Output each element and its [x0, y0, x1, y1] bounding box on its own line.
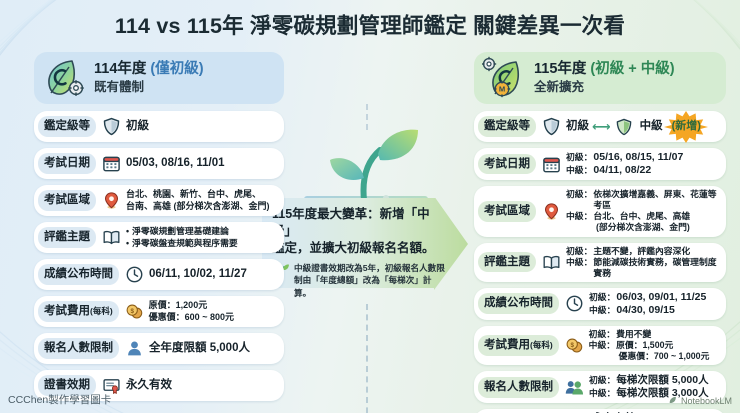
- watermark: NotebookLM: [668, 395, 732, 407]
- column-115-header-text: 115年度 (初級 + 中級) 全新擴充: [534, 61, 675, 95]
- location-pin-icon: [101, 190, 122, 211]
- location-pin-icon: [541, 201, 562, 222]
- grade-comparison: 初級 ⟷ 中級 (新增): [566, 116, 720, 137]
- table-row[interactable]: 成績公布時間 06/11, 10/02, 11/27: [34, 259, 284, 290]
- row-value: 初級 ⟷ 中級 (新增): [566, 116, 720, 137]
- people-icon: [564, 377, 585, 398]
- bullet-dot: •: [126, 238, 129, 250]
- row-label: 報名人數限制: [38, 338, 119, 359]
- person-icon: [124, 338, 145, 359]
- row-label: 考試費用(每科): [478, 335, 559, 356]
- center-callout-group: 115年度最大變革：新增「中級」 鑑定，並擴大初級報名名額。 中級證書效期改為5…: [262, 52, 470, 400]
- value-advanced-note: (部分梯次含澎湖、金門): [566, 222, 720, 233]
- value-advanced: 中級：節能減碳技術實務，碳管理制度實務: [566, 257, 720, 279]
- table-row[interactable]: 評鑑主題 初級：主題不變，評鑑內容深化 中級：節能減碳技術實務，碳管理制度實務: [474, 243, 726, 282]
- column-115-title: 115年度 (初級 + 中級): [534, 61, 675, 79]
- table-row[interactable]: 證書效期 初級：永久有效 中級：5年效期 (需換證): [474, 409, 726, 413]
- svg-text:M: M: [499, 85, 505, 94]
- column-114: 114年度 (僅初級) 既有體制 鑑定級等 初級 考試日期 05/03, 08/…: [34, 52, 284, 407]
- value-advanced-note: 優惠價：700 ~ 1,000元: [589, 351, 720, 362]
- row-label: 考試費用(每科): [38, 301, 119, 322]
- dashed-divider: [366, 304, 368, 413]
- table-row[interactable]: 考試區域 初級：依梯次擴增嘉義、屏東、花蓮等考區 中級：台北、台中、虎尾、高雄 …: [474, 186, 726, 236]
- new-badge-label: (新增): [672, 120, 701, 134]
- bullet-item: •淨零碳規劃管理基礎建論: [126, 226, 278, 238]
- watermark-label: NotebookLM: [681, 396, 732, 406]
- open-book-icon: [541, 252, 562, 273]
- calendar-icon: [541, 154, 562, 175]
- table-row[interactable]: 評鑑主題 •淨零碳規劃管理基礎建論 •淨零碳盤查規範與程序需要: [34, 222, 284, 253]
- row-value: 永久有效: [126, 378, 278, 392]
- callout-text-block: 115年度最大變革：新增「中級」 鑑定，並擴大初級報名名額。 中級證書效期改為5…: [272, 206, 448, 299]
- column-114-header: 114年度 (僅初級) 既有體制: [34, 52, 284, 104]
- value-advanced: 中級：04/30, 09/15: [589, 304, 720, 317]
- svg-text:$: $: [570, 342, 574, 349]
- row-label: 鑑定級等: [478, 116, 536, 137]
- table-row[interactable]: 報名人數限制 全年度限額 5,000人: [34, 333, 284, 364]
- row-label: 考試區域: [478, 201, 536, 222]
- row-value: 原價：1,200元 優惠價：600 ~ 800元: [149, 300, 278, 323]
- page-title: 114 vs 115年 淨零碳規劃管理師鑑定 關鍵差異一次看: [0, 9, 740, 40]
- callout-note: 中級證書效期改為5年，初級報名人數限 制由「年度總額」改為「每梯次」計算。: [272, 262, 448, 299]
- table-row[interactable]: 成績公布時間 初級：06/03, 09/01, 11/25 中級：04/30, …: [474, 288, 726, 320]
- row-value: 初級：06/03, 09/01, 11/25 中級：04/30, 09/15: [589, 291, 720, 317]
- shield-icon: [541, 116, 562, 137]
- infographic-card: 114 vs 115年 淨零碳規劃管理師鑑定 關鍵差異一次看: [0, 0, 740, 413]
- row-label: 評鑑主題: [38, 227, 96, 248]
- row-value: 全年度限額 5,000人: [149, 341, 278, 355]
- double-arrow-icon: ⟷: [592, 120, 611, 133]
- row-label: 考試日期: [478, 154, 536, 175]
- value-basic: 初級：每梯次限額 5,000人: [589, 374, 720, 387]
- table-row[interactable]: 鑑定級等 初級 ⟷ 中級 (新增): [474, 111, 726, 142]
- grade-advanced: 中級: [640, 119, 663, 133]
- row-value: 05/03, 08/16, 11/01: [126, 156, 278, 170]
- open-book-icon: [101, 227, 122, 248]
- table-row[interactable]: 鑑定級等 初級: [34, 111, 284, 142]
- table-row[interactable]: 考試日期 初級：05/16, 08/15, 11/07 中級：04/11, 08…: [474, 148, 726, 180]
- svg-text:$: $: [130, 308, 134, 315]
- row-value: 台北、桃園、新竹、台中、虎尾、 台南、高雄 (部分梯次含澎湖、金門): [126, 189, 278, 212]
- new-badge: (新增): [667, 117, 706, 137]
- value-basic: 初級：05/16, 08/15, 11/07: [566, 151, 720, 164]
- value-basic: 初級：費用不變: [589, 329, 720, 340]
- callout-note-text: 中級證書效期改為5年，初級報名人數限 制由「年度總額」改為「每梯次」計算。: [294, 262, 448, 299]
- column-114-subtitle: 既有體制: [94, 80, 204, 95]
- leaf-c-gear-icon: [42, 56, 86, 100]
- row-label: 評鑑主題: [478, 252, 536, 273]
- notebooklm-icon: [668, 395, 678, 407]
- value-basic: 初級：06/03, 09/01, 11/25: [589, 291, 720, 304]
- value-advanced: 中級：原價：1,500元: [589, 340, 720, 351]
- coins-icon: $: [124, 301, 145, 322]
- row-value: 初級：依梯次擴增嘉義、屏東、花蓮等考區 中級：台北、台中、虎尾、高雄 (部分梯次…: [566, 189, 720, 233]
- column-115: M 115年度 (初級 + 中級) 全新擴充 鑑定級等 初級 ⟷: [474, 52, 726, 413]
- table-row[interactable]: 考試費用(每科) $ 初級：費用不變 中級：原價：1,500元 優惠價：700 …: [474, 326, 726, 365]
- row-label: 成績公布時間: [38, 264, 119, 285]
- row-value: •淨零碳規劃管理基礎建論 •淨零碳盤查規範與程序需要: [126, 226, 278, 250]
- row-value: 初級：主題不變，評鑑內容深化 中級：節能減碳技術實務，碳管理制度實務: [566, 246, 720, 279]
- row-label: 鑑定級等: [38, 116, 96, 137]
- table-row[interactable]: 考試日期 05/03, 08/16, 11/01: [34, 148, 284, 179]
- row-label: 報名人數限制: [478, 377, 559, 398]
- clock-icon: [124, 264, 145, 285]
- value-basic: 初級：依梯次擴增嘉義、屏東、花蓮等考區: [566, 189, 720, 211]
- grade-basic: 初級: [566, 119, 589, 133]
- row-label: 考試日期: [38, 153, 96, 174]
- bullet-item: •淨零碳盤查規範與程序需要: [126, 238, 278, 250]
- footer-credit: CCChen製作學習圖卡: [8, 392, 111, 407]
- row-value: 初級：05/16, 08/15, 11/07 中級：04/11, 08/22: [566, 151, 720, 177]
- bullet-dot: •: [126, 226, 129, 238]
- leaf-c-m-gear-icon: M: [482, 56, 526, 100]
- dashed-stem-top: [366, 104, 368, 130]
- row-value: 初級: [126, 119, 278, 133]
- table-row[interactable]: 考試區域 台北、桃園、新竹、台中、虎尾、 台南、高雄 (部分梯次含澎湖、金門): [34, 185, 284, 216]
- row-value: 初級：費用不變 中級：原價：1,500元 優惠價：700 ~ 1,000元: [589, 329, 720, 362]
- callout-heading: 115年度最大變革：新增「中級」 鑑定，並擴大初級報名名額。: [272, 206, 448, 256]
- row-label: 成績公布時間: [478, 293, 559, 314]
- value-basic: 初級：主題不變，評鑑內容深化: [566, 246, 720, 257]
- value-advanced: 中級：台北、台中、虎尾、高雄: [566, 211, 720, 222]
- shield-green-icon: [614, 116, 635, 137]
- column-114-title: 114年度 (僅初級): [94, 61, 204, 79]
- calendar-icon: [101, 153, 122, 174]
- row-value: 06/11, 10/02, 11/27: [149, 267, 278, 281]
- row-label: 考試區域: [38, 190, 96, 211]
- column-114-header-text: 114年度 (僅初級) 既有體制: [94, 61, 204, 95]
- shield-icon: [101, 116, 122, 137]
- coins-icon: $: [564, 335, 585, 356]
- clock-icon: [564, 293, 585, 314]
- table-row[interactable]: 考試費用(每科) $ 原價：1,200元 優惠價：600 ~ 800元: [34, 296, 284, 327]
- column-115-subtitle: 全新擴充: [534, 80, 675, 95]
- value-advanced: 中級：04/11, 08/22: [566, 164, 720, 177]
- column-115-header: M 115年度 (初級 + 中級) 全新擴充: [474, 52, 726, 104]
